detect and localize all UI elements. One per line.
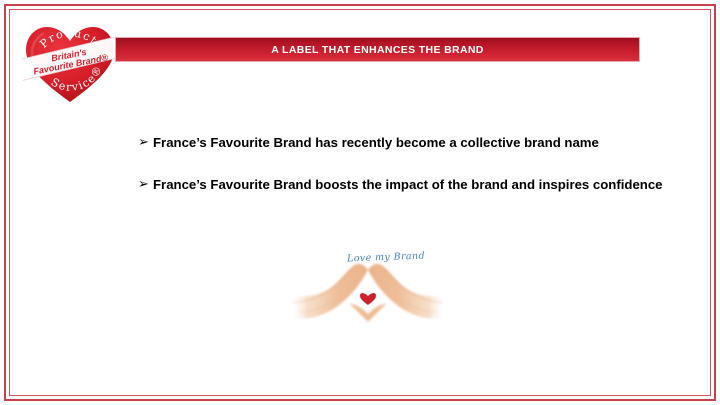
right-hand [368, 264, 446, 319]
arrow-bullet-icon: ➢ [138, 133, 153, 152]
left-hand [290, 264, 368, 319]
slide-title-banner: A LABEL THAT ENHANCES THE BRAND [115, 37, 640, 62]
thumbs-tip [350, 304, 386, 322]
page-title: A LABEL THAT ENHANCES THE BRAND [271, 44, 484, 56]
inner-red-heart [360, 293, 376, 305]
arrow-bullet-icon: ➢ [138, 175, 153, 194]
list-item: ➢ France’s Favourite Brand has recently … [138, 133, 690, 153]
bullet-list: ➢ France’s Favourite Brand has recently … [138, 133, 690, 217]
slide-canvas: Product Service® Britain's Favourite Bra… [0, 0, 720, 405]
britains-favourite-brand-heart-logo: Product Service® Britain's Favourite Bra… [22, 20, 118, 106]
list-item-label: France’s Favourite Brand boosts the impa… [153, 175, 690, 195]
list-item: ➢ France’s Favourite Brand boosts the im… [138, 175, 690, 195]
list-item-label: France’s Favourite Brand has recently be… [153, 133, 690, 153]
